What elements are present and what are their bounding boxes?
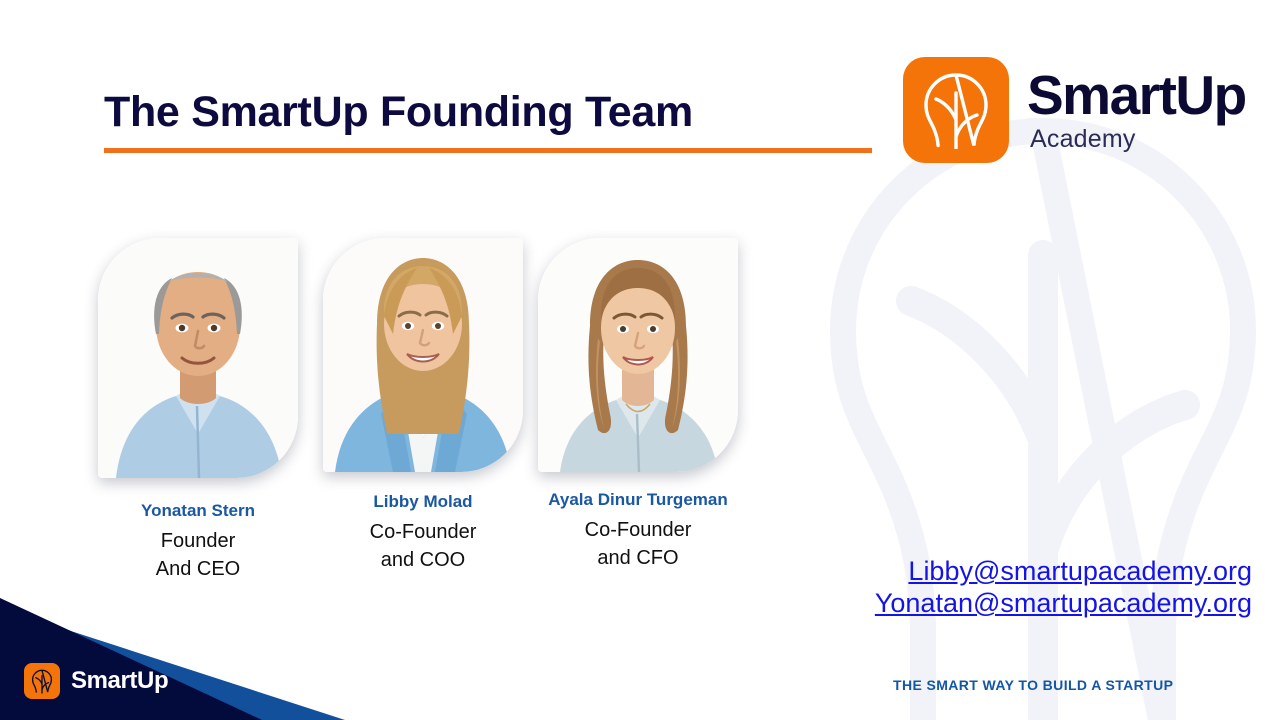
member-role: Co-Founder and CFO <box>538 516 738 573</box>
slide-canvas: SmartUp Academy The SmartUp Founding Tea… <box>0 0 1280 720</box>
member-role-line-2: and COO <box>323 546 523 574</box>
member-text: Yonatan Stern Founder And CEO <box>98 501 298 583</box>
brand-logo: SmartUp Academy <box>903 57 1246 163</box>
tagline: THE SMART WAY TO BUILD A STARTUP <box>893 677 1173 693</box>
footer-corner-decoration <box>0 580 420 720</box>
member-role-line-1: Co-Founder <box>538 516 738 544</box>
contact-emails: Libby@smartupacademy.org Yonatan@smartup… <box>875 556 1252 620</box>
member-text: Ayala Dinur Turgeman Co-Founder and CFO <box>538 490 738 572</box>
member-photo <box>98 238 298 478</box>
team-list: Yonatan Stern Founder And CEO <box>98 238 738 583</box>
tree-lightbulb-icon <box>919 71 993 149</box>
footer-navy-triangle <box>0 598 262 720</box>
member-role: Co-Founder and COO <box>323 518 523 575</box>
member-photo <box>323 238 523 472</box>
footer-brand-name: SmartUp <box>71 667 168 695</box>
logo-wordmark: SmartUp Academy <box>1027 68 1246 152</box>
tree-lightbulb-icon <box>30 668 54 694</box>
email-link-libby[interactable]: Libby@smartupacademy.org <box>875 556 1252 588</box>
member-photo <box>538 238 738 472</box>
member-name: Yonatan Stern <box>98 501 298 521</box>
member-role-line-1: Co-Founder <box>323 518 523 546</box>
watermark-tree-lightbulb-icon <box>793 105 1280 720</box>
footer-logo-tile <box>24 663 60 699</box>
member-name: Libby Molad <box>323 492 523 512</box>
page-title: The SmartUp Founding Team <box>104 88 693 137</box>
member-role-line-1: Founder <box>98 527 298 555</box>
member-name: Ayala Dinur Turgeman <box>538 490 738 510</box>
team-member-card: Ayala Dinur Turgeman Co-Founder and CFO <box>538 238 738 572</box>
team-member-card: Yonatan Stern Founder And CEO <box>98 238 298 583</box>
logo-word-smartup: SmartUp <box>1027 68 1246 123</box>
title-underline-rule <box>104 148 872 153</box>
footer-brand-logo: SmartUp <box>24 663 168 699</box>
member-text: Libby Molad Co-Founder and COO <box>323 492 523 574</box>
email-link-yonatan[interactable]: Yonatan@smartupacademy.org <box>875 588 1252 620</box>
team-member-card: Libby Molad Co-Founder and COO <box>323 238 523 574</box>
logo-tile <box>903 57 1009 163</box>
logo-word-academy: Academy <box>1030 127 1246 152</box>
member-role-line-2: and CFO <box>538 544 738 572</box>
member-role-line-2: And CEO <box>98 555 298 583</box>
member-role: Founder And CEO <box>98 527 298 584</box>
